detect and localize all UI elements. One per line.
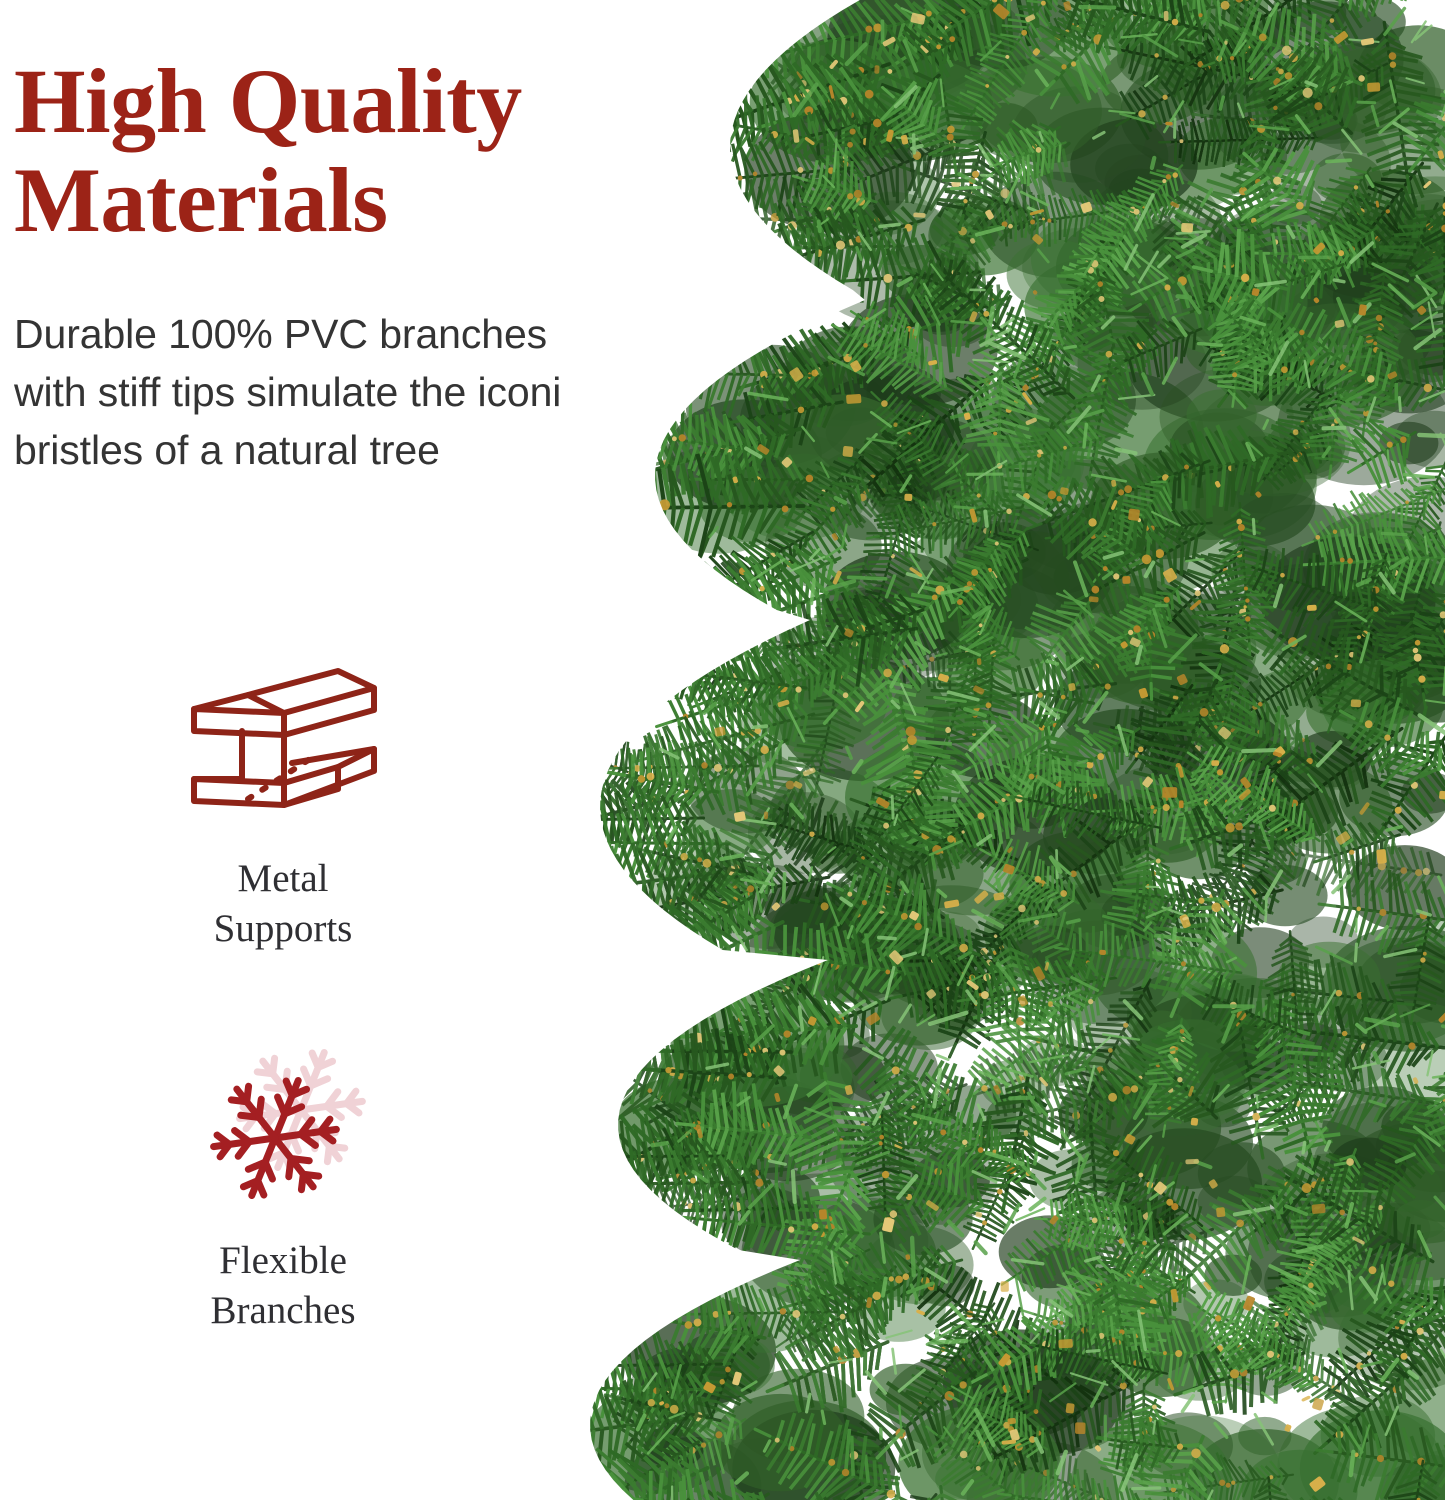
feature-label: Flexible Branches (118, 1236, 448, 1336)
product-photo-tree (560, 0, 1445, 1500)
snowflake-icon (118, 1042, 448, 1212)
product-feature-panel: High Quality Materials Durable 100% PVC … (0, 0, 1445, 1500)
feature-flexible-branches: Flexible Branches (118, 1042, 448, 1336)
feature-metal-supports: Metal Supports (118, 660, 448, 954)
feature-label: Metal Supports (118, 854, 448, 954)
i-beam-icon (118, 660, 448, 830)
